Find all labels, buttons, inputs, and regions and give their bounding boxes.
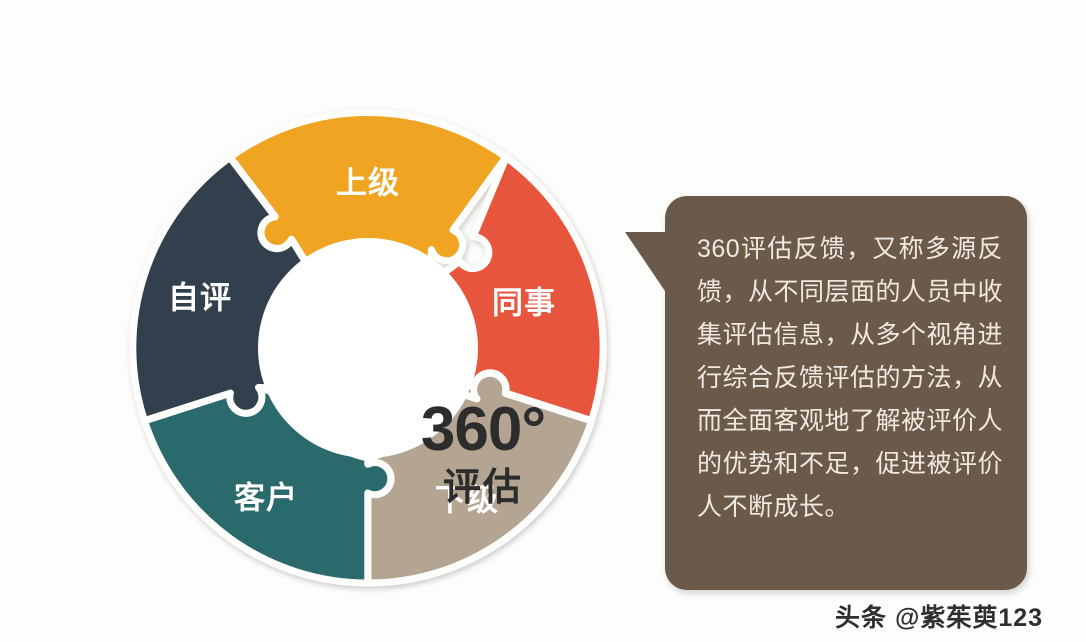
wheel-svg: 上级 同事 下级 客户 自评 <box>118 98 618 598</box>
wheel-label-self: 自评 <box>168 281 232 316</box>
360-assessment-wheel: 上级 同事 下级 客户 自评 360° 评估 <box>118 98 618 598</box>
infographic-canvas: 上级 同事 下级 客户 自评 360° 评估 360评估反馈，又称多源反馈，从不… <box>0 0 1086 642</box>
wheel-label-customer: 客户 <box>234 481 298 516</box>
wheel-label-subordinate: 下级 <box>435 483 499 518</box>
wheel-label-superior: 上级 <box>336 166 400 201</box>
callout-tail <box>625 232 667 294</box>
callout-text: 360评估反馈，又称多源反馈，从不同层面的人员中收集评估信息，从多个视角进行综合… <box>697 228 1003 529</box>
wheel-label-peer: 同事 <box>492 286 556 321</box>
description-callout: 360评估反馈，又称多源反馈，从不同层面的人员中收集评估信息，从多个视角进行综合… <box>665 196 1027 590</box>
wheel-center-hub <box>258 238 478 458</box>
watermark-label: 头条 @紫茱萸123 <box>835 598 1043 634</box>
